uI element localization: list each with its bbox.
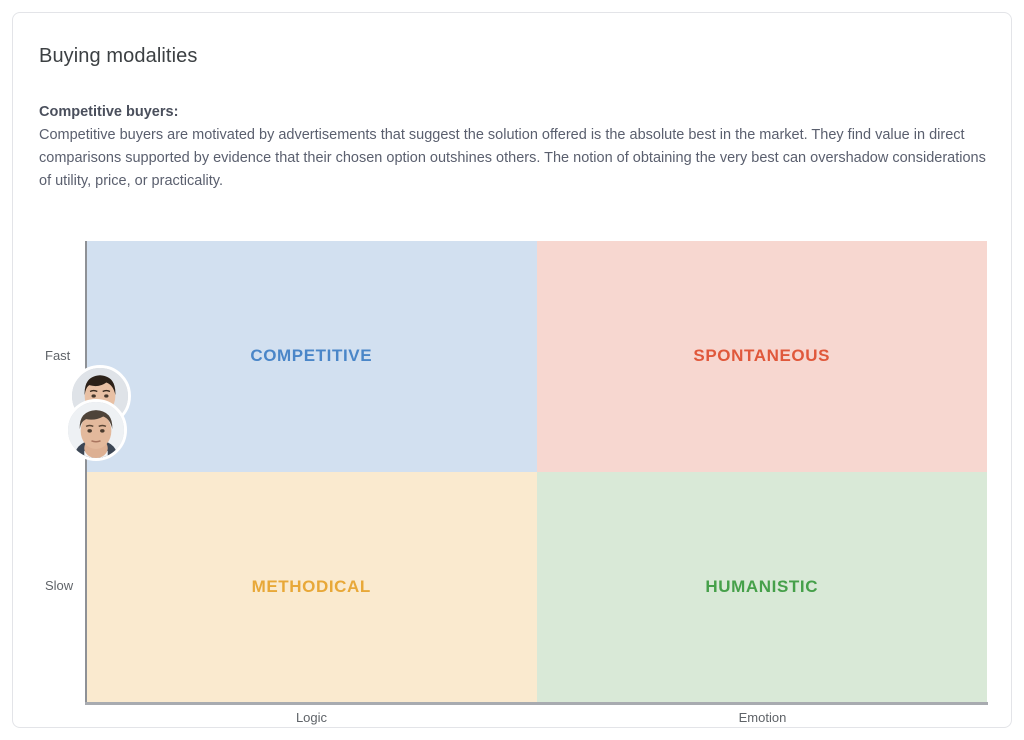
description-text: Competitive buyers are motivated by adve… (39, 124, 989, 193)
description-lead: Competitive buyers: (39, 101, 989, 124)
buying-modalities-quadrant-chart: COMPETITIVE SPONTANEOUS METHODICAL HUMAN… (39, 221, 1001, 721)
quadrant-label-spontaneous: SPONTANEOUS (693, 346, 830, 366)
buying-modalities-card: Buying modalities Competitive buyers: Co… (12, 12, 1012, 728)
quadrant-label-methodical: METHODICAL (252, 577, 371, 597)
x-axis-tick-logic: Logic (86, 710, 537, 725)
chart-plot-area: COMPETITIVE SPONTANEOUS METHODICAL HUMAN… (86, 241, 987, 702)
quadrant-label-humanistic: HUMANISTIC (705, 577, 818, 597)
quadrant-humanistic[interactable]: HUMANISTIC (537, 472, 988, 703)
x-axis-tick-emotion: Emotion (537, 710, 988, 725)
page-title: Buying modalities (39, 45, 197, 68)
description-block: Competitive buyers: Competitive buyers a… (39, 101, 989, 193)
avatar[interactable] (65, 399, 127, 461)
x-axis-line (85, 702, 988, 705)
quadrant-competitive[interactable]: COMPETITIVE (86, 241, 537, 472)
quadrant-methodical[interactable]: METHODICAL (86, 472, 537, 703)
quadrant-label-competitive: COMPETITIVE (250, 346, 372, 366)
avatar-marker-group[interactable] (51, 365, 141, 485)
quadrant-spontaneous[interactable]: SPONTANEOUS (537, 241, 988, 472)
